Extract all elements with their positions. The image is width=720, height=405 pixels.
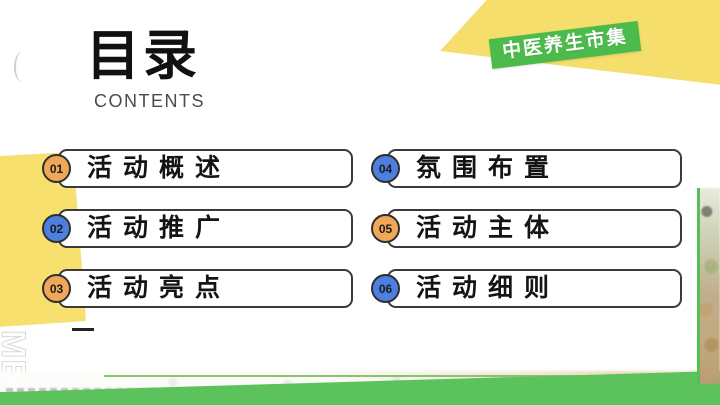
contents-item-label: 活动主体 — [416, 216, 560, 241]
contents-item[interactable]: 04氛围布置 — [365, 146, 684, 191]
page-title: 目录 — [86, 28, 205, 85]
contents-item-label: 活动细则 — [416, 276, 560, 301]
title-block: 目录 CONTENTS — [86, 28, 205, 112]
contents-item-label: 活动概述 — [87, 156, 231, 181]
contents-item[interactable]: 03活动亮点 — [36, 266, 355, 311]
contents-item-label: 活动亮点 — [87, 276, 231, 301]
contents-item-label: 活动推广 — [87, 216, 231, 241]
right-green-line — [697, 188, 700, 384]
contents-item[interactable]: 06活动细则 — [365, 266, 684, 311]
presentation-slide: MEI 中医养生市集 目录 CONTENTS 01活动概述04氛围布置02活动推… — [0, 0, 720, 405]
contents-item-number-badge: 06 — [371, 274, 400, 303]
contents-list: 01活动概述04氛围布置02活动推广05活动主体03活动亮点06活动细则 — [0, 146, 720, 311]
contents-item-number-badge: 03 — [42, 274, 71, 303]
contents-item[interactable]: 01活动概述 — [36, 146, 355, 191]
right-photo-strip — [698, 188, 720, 384]
contents-item[interactable]: 05活动主体 — [365, 206, 684, 251]
page-subtitle: CONTENTS — [94, 91, 205, 112]
contents-item-number-badge: 04 — [371, 154, 400, 183]
contents-item-number-badge: 01 — [42, 154, 71, 183]
contents-item-label: 氛围布置 — [416, 156, 560, 181]
contents-item-number-badge: 02 — [42, 214, 71, 243]
dash-decoration — [72, 328, 94, 331]
arc-decoration-icon — [14, 52, 30, 82]
contents-item-number-badge: 05 — [371, 214, 400, 243]
contents-item[interactable]: 02活动推广 — [36, 206, 355, 251]
